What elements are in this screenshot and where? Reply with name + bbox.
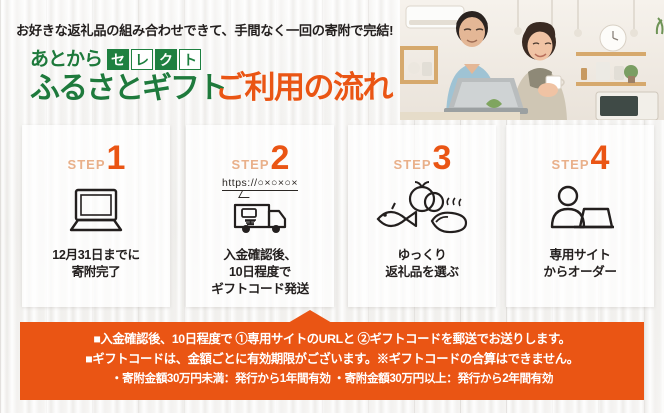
step-2-text-line1: 入金確認後、 bbox=[211, 247, 309, 264]
step-1: STEP 1 12月31日までに 寄附完了 bbox=[22, 125, 170, 310]
step-2-text-line2: 10日程度で bbox=[211, 264, 309, 281]
postal-truck-icon bbox=[229, 197, 291, 237]
step-2-text: 入金確認後、 10日程度で ギフトコード発送 bbox=[211, 247, 309, 298]
step-2-text-line3: ギフトコード発送 bbox=[211, 281, 309, 298]
step-3-number: 3 bbox=[433, 143, 451, 173]
steps-section: STEP 1 12月31日までに 寄附完了 STEP 2 bbox=[0, 125, 664, 310]
hero-photo-couple-with-laptop bbox=[400, 0, 664, 120]
page-title: ご利用の流れ bbox=[215, 62, 392, 107]
notice-line-3: ・寄附金額30万円未満：発行から1年間有効 ・寄附金額30万円以上：発行から2年… bbox=[111, 371, 553, 387]
step-4-text-line2: からオーダー bbox=[543, 264, 616, 281]
step-4-word: STEP bbox=[552, 158, 590, 171]
notice-line-1: ■入金確認後、10日程度で ①専用サイトのURLと ②ギフトコードを郵送でお送り… bbox=[93, 331, 570, 347]
step-4: STEP 4 専用サイト からオーダー bbox=[506, 125, 654, 310]
tagline: お好きな返礼品の組み合わせできて、手間なく一回の寄附で完結! bbox=[16, 20, 393, 39]
step-3-text: ゆっくり 返礼品を選ぶ bbox=[385, 247, 458, 281]
step-4-text-line1: 専用サイト bbox=[543, 247, 616, 264]
select-char-4: ト bbox=[179, 49, 201, 70]
logo-top-row: あとから セ レ ク ト bbox=[30, 46, 226, 70]
step-1-text: 12月31日までに 寄附完了 bbox=[52, 247, 139, 281]
select-char-2: レ bbox=[131, 49, 153, 70]
step-2-icon-group: https://○×○×○× bbox=[222, 173, 298, 241]
logo-furusato-gift-text: ふるさとギフト bbox=[30, 72, 226, 106]
url-speech-bubble: https://○×○×○× bbox=[222, 177, 298, 191]
notice-line-2: ■ギフトコードは、金額ごとに有効期限がございます。※ギフトコードの合算はできませ… bbox=[85, 351, 578, 367]
step-3-text-line2: 返礼品を選ぶ bbox=[385, 264, 458, 281]
header: お好きな返礼品の組み合わせできて、手間なく一回の寄附で完結! あとから セ レ … bbox=[0, 0, 664, 120]
step-1-word: STEP bbox=[68, 158, 106, 171]
step-4-text: 専用サイト からオーダー bbox=[543, 247, 616, 281]
step-3-text-line1: ゆっくり bbox=[385, 247, 458, 264]
notice-box: ■入金確認後、10日程度で ①専用サイトのURLと ②ギフトコードを郵送でお送り… bbox=[20, 322, 644, 400]
laptop-icon bbox=[66, 179, 126, 241]
step-2: STEP 2 https://○×○×○× 入金確認後、 10日程度で bbox=[186, 125, 334, 310]
step-3-word: STEP bbox=[394, 158, 432, 171]
step-4-label: STEP 4 bbox=[552, 143, 609, 173]
speech-bubble-tail bbox=[222, 191, 298, 197]
step-3-label: STEP 3 bbox=[394, 143, 451, 173]
step-2-number: 2 bbox=[271, 143, 289, 173]
notice-lines: ■入金確認後、10日程度で ①専用サイトのURLと ②ギフトコードを郵送でお送り… bbox=[20, 322, 644, 387]
step-2-word: STEP bbox=[232, 158, 270, 171]
fruit-icon bbox=[410, 187, 434, 211]
select-char-1: セ bbox=[107, 49, 129, 70]
logo-select-boxes: セ レ ク ト bbox=[107, 49, 201, 70]
logo-atokara-text: あとから bbox=[30, 49, 102, 71]
step-4-number: 4 bbox=[591, 143, 609, 173]
step-2-label: STEP 2 bbox=[232, 143, 289, 173]
select-char-3: ク bbox=[155, 49, 177, 70]
step-1-label: STEP 1 bbox=[68, 143, 125, 173]
meat-icon bbox=[432, 213, 466, 232]
food-icons-group bbox=[372, 179, 472, 241]
step-1-text-line2: 寄附完了 bbox=[52, 264, 139, 281]
step-1-text-line1: 12月31日までに bbox=[52, 247, 139, 264]
promo-graphic: お好きな返礼品の組み合わせできて、手間なく一回の寄附で完結! あとから セ レ … bbox=[0, 0, 664, 413]
person-at-laptop-icon bbox=[544, 179, 616, 241]
step-3: STEP 3 bbox=[348, 125, 496, 310]
step-1-number: 1 bbox=[107, 143, 125, 173]
brand-logo: あとから セ レ ク ト ふるさとギフト bbox=[30, 46, 226, 106]
fish-icon bbox=[378, 212, 406, 226]
